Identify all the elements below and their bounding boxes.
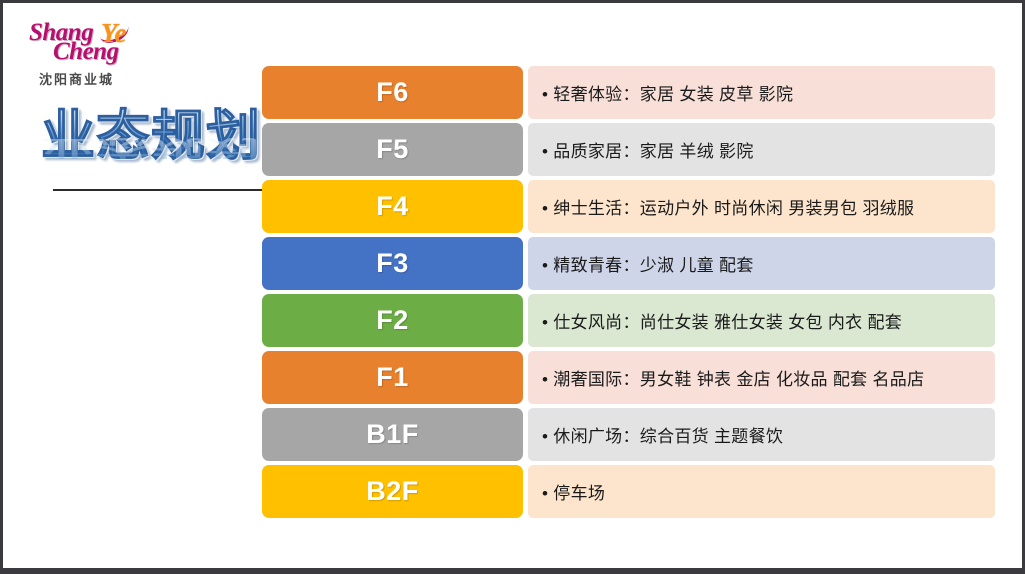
floor-description-text: • 轻奢体验：家居 女装 皮草 影院 <box>542 80 793 105</box>
page-title-reflection: 业态规划 <box>41 136 271 159</box>
floor-description-panel-f2: • 仕女风尚：尚仕女装 雅仕女装 女包 内衣 配套 <box>528 294 995 347</box>
floor-label: F3 <box>376 248 409 279</box>
floor-description-panel-b1f: • 休闲广场：综合百货 主题餐饮 <box>528 408 995 461</box>
floor-description-text: • 仕女风尚：尚仕女装 雅仕女装 女包 内衣 配套 <box>542 308 902 333</box>
page-title: 业态规划 业态规划 <box>41 107 271 199</box>
floor-chip-f4[interactable]: F4 <box>262 180 523 233</box>
floor-description-text: • 精致青春：少淑 儿童 配套 <box>542 251 754 276</box>
floor-chip-b1f[interactable]: B1F <box>262 408 523 461</box>
floor-description-text: • 品质家居：家居 羊绒 影院 <box>542 137 754 162</box>
floor-label: B1F <box>366 419 419 450</box>
floor-row: F1• 潮奢国际：男女鞋 钟表 金店 化妆品 配套 名品店 <box>262 351 995 404</box>
floor-description-panel-f5: • 品质家居：家居 羊绒 影院 <box>528 123 995 176</box>
floor-label: B2F <box>366 476 419 507</box>
floor-description-panel-f4: • 绅士生活：运动户外 时尚休闲 男装男包 羽绒服 <box>528 180 995 233</box>
floor-description-text: • 绅士生活：运动户外 时尚休闲 男装男包 羽绒服 <box>542 194 914 219</box>
logo-wordmark: Shang Ye Cheng <box>27 19 157 65</box>
floor-label: F5 <box>376 134 409 165</box>
floor-plan-list: F6• 轻奢体验：家居 女装 皮草 影院F5• 品质家居：家居 羊绒 影院F4•… <box>262 66 995 522</box>
floor-row: F5• 品质家居：家居 羊绒 影院 <box>262 123 995 176</box>
floor-chip-f1[interactable]: F1 <box>262 351 523 404</box>
floor-row: B2F• 停车场 <box>262 465 995 518</box>
floor-row: F2• 仕女风尚：尚仕女装 雅仕女装 女包 内衣 配套 <box>262 294 995 347</box>
floor-row: F6• 轻奢体验：家居 女装 皮草 影院 <box>262 66 995 119</box>
floor-row: B1F• 休闲广场：综合百货 主题餐饮 <box>262 408 995 461</box>
floor-description-panel-f6: • 轻奢体验：家居 女装 皮草 影院 <box>528 66 995 119</box>
title-underline-rule <box>53 189 271 191</box>
floor-description-panel-f1: • 潮奢国际：男女鞋 钟表 金店 化妆品 配套 名品店 <box>528 351 995 404</box>
floor-description-panel-f3: • 精致青春：少淑 儿童 配套 <box>528 237 995 290</box>
floor-label: F1 <box>376 362 409 393</box>
logo-chinese-name: 沈阳商业城 <box>39 69 114 88</box>
floor-label: F4 <box>376 191 409 222</box>
floor-label: F6 <box>376 77 409 108</box>
floor-description-text: • 休闲广场：综合百货 主题餐饮 <box>542 422 783 447</box>
floor-chip-f6[interactable]: F6 <box>262 66 523 119</box>
logo-text-cheng: Cheng <box>53 38 119 66</box>
floor-label: F2 <box>376 305 409 336</box>
floor-chip-f3[interactable]: F3 <box>262 237 523 290</box>
floor-row: F4• 绅士生活：运动户外 时尚休闲 男装男包 羽绒服 <box>262 180 995 233</box>
floor-description-text: • 停车场 <box>542 479 605 504</box>
floor-chip-f5[interactable]: F5 <box>262 123 523 176</box>
floor-chip-f2[interactable]: F2 <box>262 294 523 347</box>
brand-logo: Shang Ye Cheng 沈阳商业城 <box>27 19 157 91</box>
floor-description-panel-b2f: • 停车场 <box>528 465 995 518</box>
slide-canvas: Shang Ye Cheng 沈阳商业城 业态规划 业态规划 F6• 轻奢体验：… <box>3 3 1022 568</box>
floor-description-text: • 潮奢国际：男女鞋 钟表 金店 化妆品 配套 名品店 <box>542 365 924 390</box>
floor-row: F3• 精致青春：少淑 儿童 配套 <box>262 237 995 290</box>
floor-chip-b2f[interactable]: B2F <box>262 465 523 518</box>
